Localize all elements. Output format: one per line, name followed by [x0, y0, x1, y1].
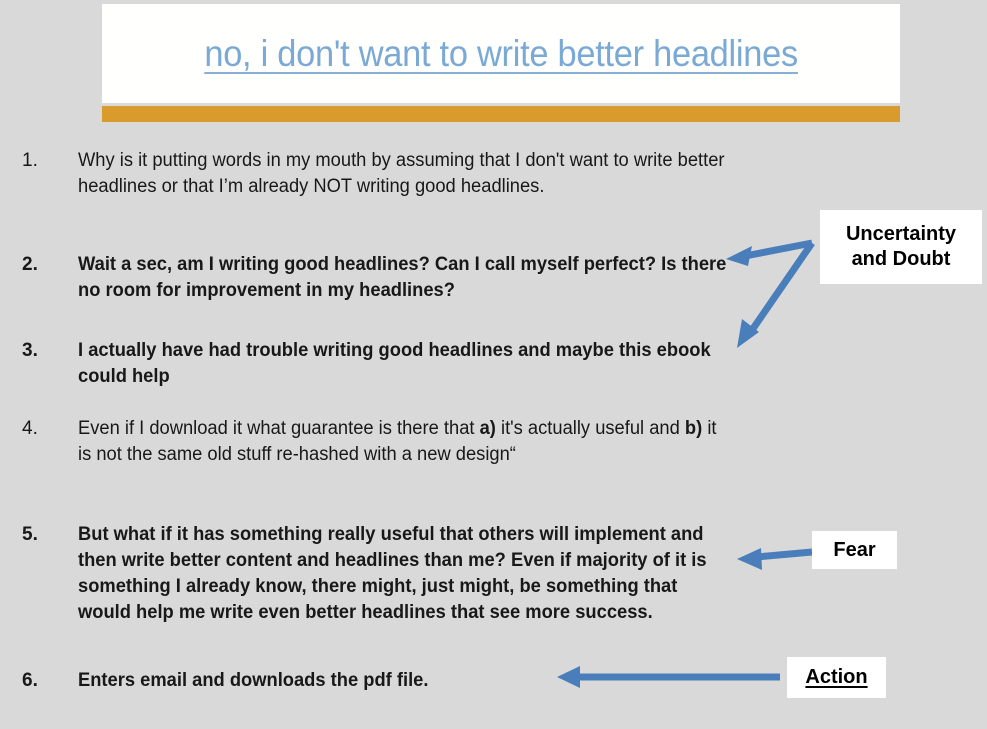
list-item-text: Why is it putting words in my mouth by a…	[78, 148, 726, 200]
list-item-number: 3.	[22, 338, 62, 364]
page-title: no, i don't want to write better headlin…	[204, 33, 798, 75]
callout-fear: Fear	[812, 531, 897, 569]
callout-action: Action	[787, 657, 886, 698]
list-item-number: 2.	[22, 252, 62, 278]
slide-canvas: no, i don't want to write better headlin…	[0, 0, 987, 729]
title-accent-bar	[102, 106, 900, 122]
list-item-text: I actually have had trouble writing good…	[78, 338, 726, 390]
callout-uncertainty: Uncertainty and Doubt	[820, 210, 982, 284]
callout-line-2: and Doubt	[852, 248, 951, 270]
list-item-number: 4.	[22, 416, 62, 442]
list-item-number: 5.	[22, 522, 62, 548]
list-item-text: Enters email and downloads the pdf file.	[78, 668, 726, 694]
callout-line-1: Uncertainty	[846, 223, 956, 245]
title-panel: no, i don't want to write better headlin…	[102, 4, 900, 103]
list-item-text: But what if it has something really usef…	[78, 522, 726, 626]
list-item-number: 6.	[22, 668, 62, 694]
arrow-uncertainty-to-item-2	[726, 243, 812, 266]
arrow-uncertainty-to-item-3	[737, 243, 812, 348]
list-item-number: 1.	[22, 148, 62, 174]
callout-action-label: Action	[805, 665, 867, 690]
list-item-text: Wait a sec, am I writing good headlines?…	[78, 252, 726, 304]
callout-uncertainty-label: Uncertainty and Doubt	[846, 222, 956, 272]
callout-fear-label: Fear	[833, 538, 875, 563]
arrow-fear-to-item-5	[737, 548, 812, 570]
list-item-text: Even if I download it what guarantee is …	[78, 416, 726, 468]
